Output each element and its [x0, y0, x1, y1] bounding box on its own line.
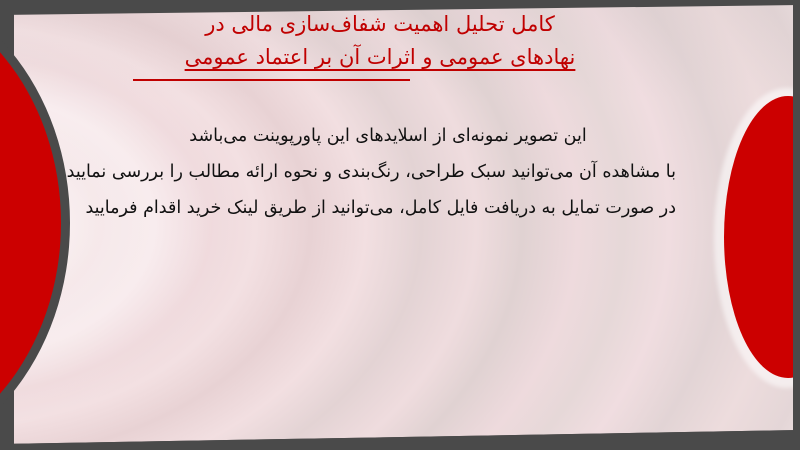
title-underline-rule — [133, 79, 410, 81]
slide-title-line-2: نهادهای عمومی و اثرات آن بر اعتماد عمومی — [80, 41, 680, 74]
presentation-slide: کامل تحلیل اهمیت شفاف‌سازی مالی در نهاده… — [0, 0, 800, 450]
slide-body-line-3: در صورت تمایل به دریافت فایل کامل، می‌تو… — [100, 190, 676, 226]
slide-content: کامل تحلیل اهمیت شفاف‌سازی مالی در نهاده… — [0, 0, 800, 450]
slide-body-line-1: این تصویر نمونه‌ای از اسلایدهای این پاور… — [100, 118, 676, 154]
slide-title: کامل تحلیل اهمیت شفاف‌سازی مالی در نهاده… — [80, 8, 680, 74]
slide-body-line-2: با مشاهده آن می‌توانید سبک طراحی، رنگ‌بن… — [100, 154, 676, 190]
slide-body-text: این تصویر نمونه‌ای از اسلایدهای این پاور… — [100, 118, 676, 226]
slide-title-line-1: کامل تحلیل اهمیت شفاف‌سازی مالی در — [80, 8, 680, 41]
